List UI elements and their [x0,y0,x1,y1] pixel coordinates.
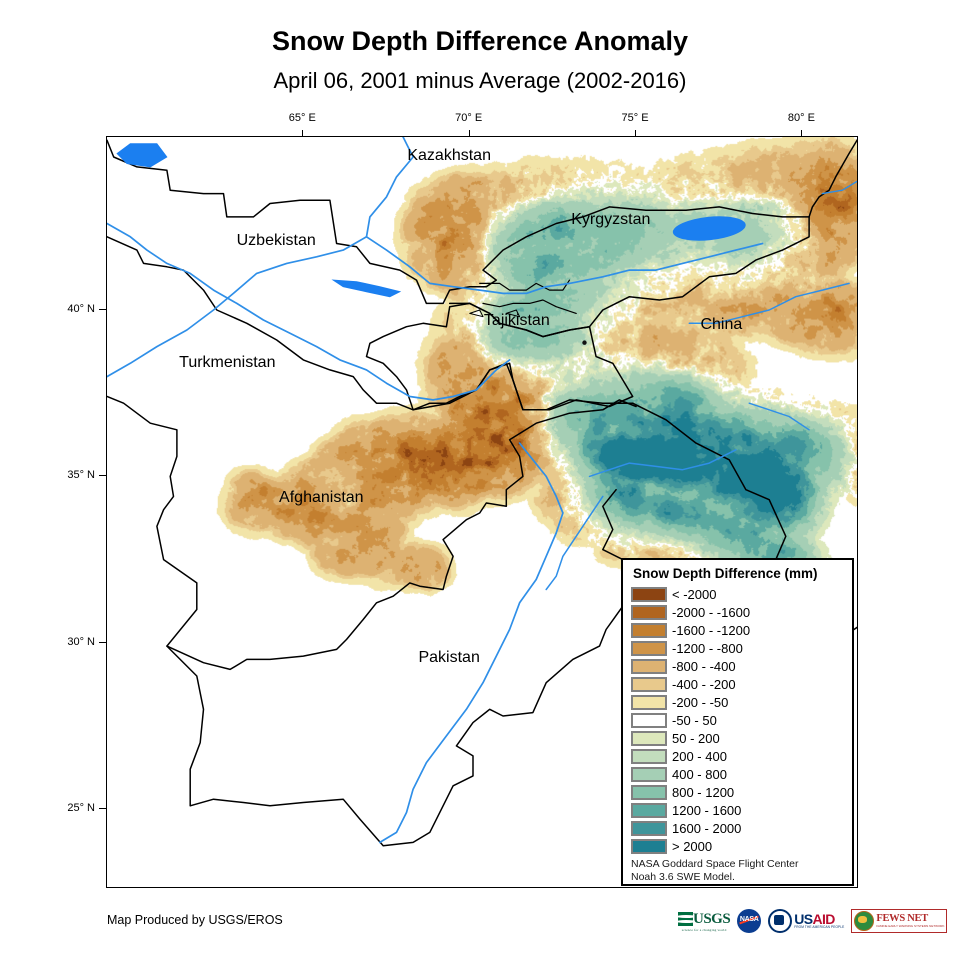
lake-aral [117,144,167,167]
fews-net-logo: FEWS NET FAMINE EARLY WARNING SYSTEMS NE… [851,908,947,934]
legend-attribution: NASA Goddard Space Flight CenterNoah 3.6… [631,858,846,884]
legend-class-row: 1200 - 1600 [631,801,846,819]
lat-tick-mark [99,475,106,476]
legend-color-swatch [631,821,667,836]
legend-class-label: 1600 - 2000 [672,821,741,836]
legend-color-swatch [631,623,667,638]
legend-color-swatch [631,605,667,620]
legend-color-swatch [631,785,667,800]
legend-color-swatch [631,731,667,746]
legend-class-label: 800 - 1200 [672,785,734,800]
country-label: Afghanistan [279,489,364,507]
legend-class-label: 200 - 400 [672,749,727,764]
lake-issyk-kul [672,213,747,244]
border-pakistan-india [167,490,636,846]
legend-class-label: 50 - 200 [672,731,720,746]
river-upper-indus [590,450,736,477]
legend-class-label: 1200 - 1600 [672,803,741,818]
border-turkmenistan-uzbekistan [107,237,413,410]
fews-tagline: FAMINE EARLY WARNING SYSTEMS NETWORK [876,925,944,928]
usaid-logo: USAID FROM THE AMERICAN PEOPLE [768,908,844,934]
legend-color-swatch [631,713,667,728]
legend-class-label: -1200 - -800 [672,641,743,656]
map-page: Snow Depth Difference Anomaly April 06, … [0,0,960,960]
legend-class-list: < -2000-2000 - -1600-1600 - -1200-1200 -… [631,585,846,855]
usgs-logo: USGS science for a changing world [678,908,730,934]
lat-tick-label: 35° N [0,469,95,481]
nasa-logo: NASA [737,908,761,934]
legend-class-row: 400 - 800 [631,765,846,783]
lake-karakul [582,340,586,344]
logo-strip: USGS science for a changing world NASA U… [678,908,947,934]
lat-tick-mark [99,808,106,809]
country-label: China [700,316,742,334]
legend-class-label: 400 - 800 [672,767,727,782]
lon-tick-label: 80° E [788,112,815,124]
page-title: Snow Depth Difference Anomaly [0,26,960,57]
legend-class-label: -800 - -400 [672,659,736,674]
usgs-tagline: science for a changing world [682,928,727,932]
legend-color-swatch [631,695,667,710]
nasa-wordmark: NASA [737,916,761,923]
legend-class-label: -200 - -50 [672,695,728,710]
lon-tick-label: 70° E [455,112,482,124]
legend-color-swatch [631,749,667,764]
legend-color-swatch [631,659,667,674]
legend-title: Snow Depth Difference (mm) [633,566,846,581]
lake-aydarkul [333,280,400,297]
border-afghanistan-north [413,363,633,410]
lat-tick-mark [99,642,106,643]
legend-class-row: < -2000 [631,585,846,603]
legend-class-row: -200 - -50 [631,693,846,711]
legend-class-label: -400 - -200 [672,677,736,692]
nasa-meatball-icon: NASA [737,909,761,933]
legend-class-row: > 2000 [631,837,846,855]
legend-class-label: < -2000 [672,587,716,602]
river-syr-darya [367,237,763,294]
usaid-tagline: FROM THE AMERICAN PEOPLE [794,926,844,929]
lat-tick-label: 40° N [0,303,95,315]
country-label: Pakistan [418,649,479,667]
legend-class-label: -1600 - -1200 [672,623,750,638]
legend-panel: Snow Depth Difference (mm) < -2000-2000 … [621,558,854,886]
legend-attribution-line: Noah 3.6 SWE Model. [631,871,846,884]
river-indus [380,443,563,842]
legend-class-row: 200 - 400 [631,747,846,765]
producer-credit: Map Produced by USGS/EROS [107,913,283,927]
legend-color-swatch [631,641,667,656]
lat-tick-mark [99,309,106,310]
border-enclave-b [470,310,483,317]
legend-class-row: -1600 - -1200 [631,621,846,639]
legend-color-swatch [631,839,667,854]
legend-class-row: 50 - 200 [631,729,846,747]
country-label: Tajikistan [484,312,550,330]
page-subtitle: April 06, 2001 minus Average (2002-2016) [0,68,960,94]
river-jhelum [546,496,603,589]
legend-class-row: -800 - -400 [631,657,846,675]
country-label: Turkmenistan [179,354,275,372]
legend-class-row: -2000 - -1600 [631,603,846,621]
river-syr-amu-west [107,137,413,377]
lat-tick-label: 25° N [0,802,95,814]
legend-color-swatch [631,767,667,782]
usaid-seal-icon [768,909,792,933]
legend-color-swatch [631,677,667,692]
lon-tick-label: 75° E [622,112,649,124]
river-kunlun-north [749,403,809,430]
usgs-wave-icon [678,912,693,926]
legend-class-row: -400 - -200 [631,675,846,693]
legend-attribution-line: NASA Goddard Space Flight Center [631,858,846,871]
legend-class-label: > 2000 [672,839,712,854]
legend-color-swatch [631,803,667,818]
lat-tick-label: 30° N [0,636,95,648]
country-label: Kazakhstan [407,147,491,165]
lon-tick-label: 65° E [289,112,316,124]
usgs-wordmark: USGS [693,911,730,928]
legend-class-row: -50 - 50 [631,711,846,729]
legend-class-row: -1200 - -800 [631,639,846,657]
country-label: Kyrgyzstan [571,211,650,229]
legend-class-row: 800 - 1200 [631,783,846,801]
legend-class-row: 1600 - 2000 [631,819,846,837]
country-label: Uzbekistan [237,232,316,250]
legend-color-swatch [631,587,667,602]
fews-globe-icon [854,911,874,931]
legend-class-label: -50 - 50 [672,713,717,728]
legend-class-label: -2000 - -1600 [672,605,750,620]
